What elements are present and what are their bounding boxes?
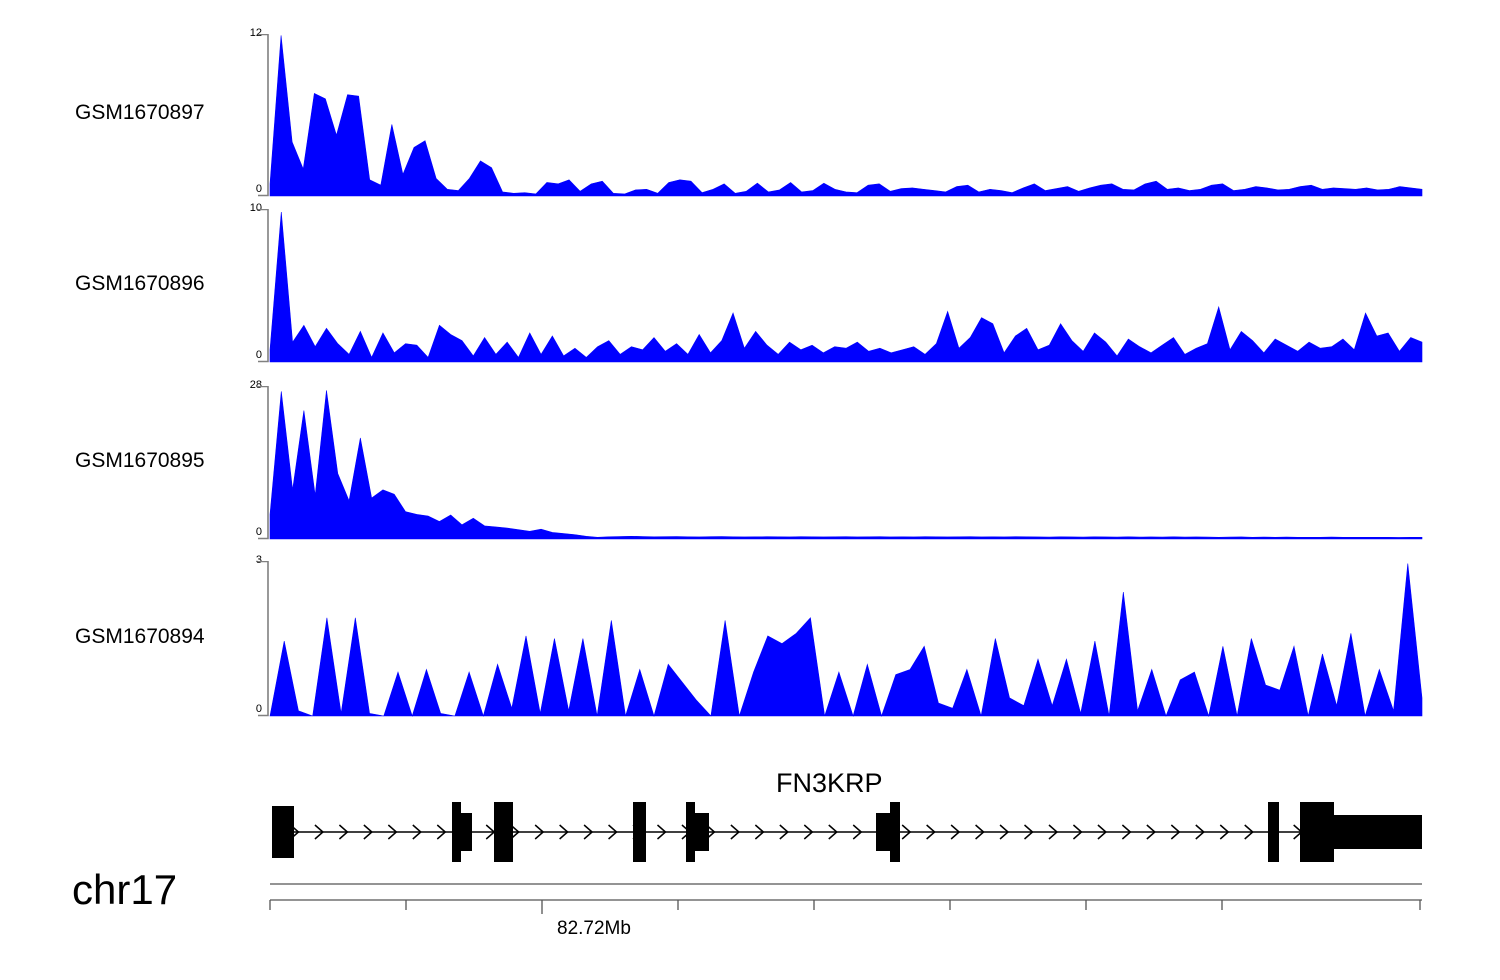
- coordinate-axis[interactable]: [0, 875, 1500, 935]
- coverage-track-GSM1670897: GSM1670897 12 0: [0, 34, 1500, 196]
- coverage-track-GSM1670894: GSM1670894 3 0: [0, 561, 1500, 716]
- coverage-track-GSM1670895: GSM1670895 28 0: [0, 386, 1500, 539]
- coverage-plot: [0, 209, 1500, 368]
- coverage-track-GSM1670896: GSM1670896 10 0: [0, 209, 1500, 362]
- coverage-plot: [0, 386, 1500, 545]
- gene-model-track[interactable]: [0, 760, 1500, 880]
- genome-browser: GSM1670897 12 0 GSM1670896 10 0 GSM16708…: [0, 0, 1500, 980]
- coverage-plot: [0, 34, 1500, 202]
- axis-tick-label: 82.72Mb: [557, 918, 631, 940]
- coverage-plot: [0, 561, 1500, 722]
